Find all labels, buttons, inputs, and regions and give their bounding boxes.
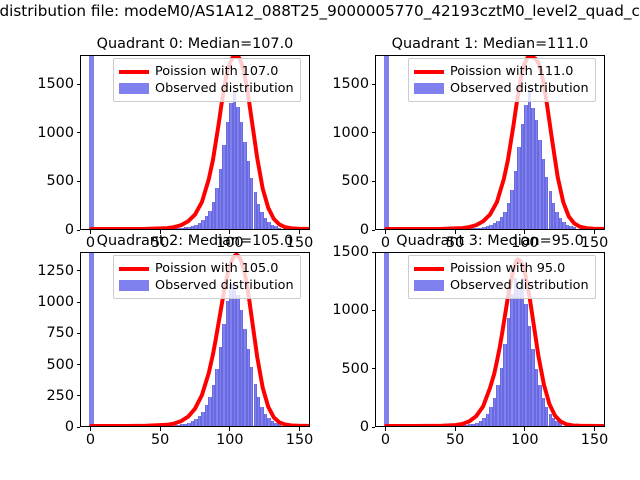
subplot-quadrant-2: Quadrant 2: Median=105.0 Poission with 1… bbox=[80, 252, 310, 427]
y-tick-label: 0 bbox=[65, 222, 74, 238]
legend-3[interactable]: Poission with 95.0Observed distribution bbox=[408, 255, 596, 299]
y-tick-mark bbox=[77, 132, 81, 133]
x-tick-mark bbox=[160, 427, 161, 431]
y-tick-mark bbox=[77, 333, 81, 334]
x-tick-label: 0 bbox=[86, 432, 95, 448]
legend-label: Observed distribution bbox=[155, 278, 294, 293]
legend-1[interactable]: Poission with 111.0Observed distribution bbox=[408, 58, 596, 102]
legend-entry: Observed distribution bbox=[414, 277, 589, 294]
y-tick-label: 1500 bbox=[332, 76, 369, 92]
legend-2[interactable]: Poission with 105.0Observed distribution bbox=[113, 255, 301, 299]
legend-label: Poission with 105.0 bbox=[155, 261, 278, 276]
legend-entry: Poission with 105.0 bbox=[119, 260, 294, 277]
y-tick-label: 1000 bbox=[37, 125, 74, 141]
y-tick-mark bbox=[372, 181, 376, 182]
legend-line-swatch bbox=[119, 70, 149, 74]
y-tick-mark bbox=[77, 395, 81, 396]
legend-patch-swatch bbox=[119, 83, 149, 94]
y-tick-mark bbox=[77, 84, 81, 85]
legend-patch-swatch bbox=[119, 280, 149, 291]
x-tick-label: 0 bbox=[86, 235, 95, 251]
x-tick-mark bbox=[594, 427, 595, 431]
x-tick-mark bbox=[299, 230, 300, 234]
y-tick-mark bbox=[372, 310, 376, 311]
y-tick-mark bbox=[372, 132, 376, 133]
x-tick-label: 0 bbox=[381, 235, 390, 251]
y-tick-label: 250 bbox=[47, 388, 74, 404]
y-tick-mark bbox=[77, 230, 81, 231]
x-tick-mark bbox=[455, 427, 456, 431]
y-tick-mark bbox=[77, 364, 81, 365]
subplot-title-1: Quadrant 1: Median=111.0 bbox=[392, 36, 589, 52]
subplot-quadrant-3: Quadrant 3: Median=95.0 Poission with 95… bbox=[375, 252, 605, 427]
subplot-title-2: Quadrant 2: Median=105.0 bbox=[97, 233, 294, 249]
legend-entry: Poission with 107.0 bbox=[119, 63, 294, 80]
y-tick-mark bbox=[372, 252, 376, 253]
x-tick-label: 150 bbox=[581, 432, 608, 448]
x-tick-label: 50 bbox=[151, 432, 169, 448]
y-tick-label: 500 bbox=[342, 173, 369, 189]
y-tick-label: 1250 bbox=[37, 263, 74, 279]
subplot-quadrant-1: Quadrant 1: Median=111.0 Poission with 1… bbox=[375, 55, 605, 230]
y-tick-label: 0 bbox=[360, 419, 369, 435]
x-tick-label: 150 bbox=[581, 235, 608, 251]
legend-label: Poission with 111.0 bbox=[450, 64, 573, 79]
legend-entry: Observed distribution bbox=[414, 80, 589, 97]
matplotlib-figure: Median distribution file: modeM0/AS1A12_… bbox=[0, 0, 640, 480]
x-tick-label: 50 bbox=[446, 432, 464, 448]
y-tick-mark bbox=[77, 270, 81, 271]
y-tick-label: 1500 bbox=[37, 76, 74, 92]
legend-entry: Observed distribution bbox=[119, 80, 294, 97]
x-tick-mark bbox=[229, 427, 230, 431]
x-tick-label: 150 bbox=[286, 432, 313, 448]
legend-line-swatch bbox=[414, 70, 444, 74]
legend-label: Observed distribution bbox=[450, 81, 589, 96]
legend-entry: Observed distribution bbox=[119, 277, 294, 294]
subplot-quadrant-0: Quadrant 0: Median=107.0 Poission with 1… bbox=[80, 55, 310, 230]
x-tick-label: 100 bbox=[216, 432, 243, 448]
subplot-title-3: Quadrant 3: Median=95.0 bbox=[396, 233, 584, 249]
subplot-title-0: Quadrant 0: Median=107.0 bbox=[97, 36, 294, 52]
y-tick-label: 1000 bbox=[332, 125, 369, 141]
y-tick-label: 0 bbox=[65, 419, 74, 435]
y-tick-mark bbox=[372, 368, 376, 369]
legend-label: Poission with 107.0 bbox=[155, 64, 278, 79]
x-tick-mark bbox=[524, 427, 525, 431]
x-tick-mark bbox=[299, 427, 300, 431]
y-tick-mark bbox=[77, 427, 81, 428]
legend-entry: Poission with 111.0 bbox=[414, 63, 589, 80]
legend-0[interactable]: Poission with 107.0Observed distribution bbox=[113, 58, 301, 102]
legend-patch-swatch bbox=[414, 83, 444, 94]
x-tick-mark bbox=[594, 230, 595, 234]
x-tick-mark bbox=[385, 230, 386, 234]
x-tick-mark bbox=[90, 427, 91, 431]
x-tick-mark bbox=[385, 427, 386, 431]
figure-suptitle: Median distribution file: modeM0/AS1A12_… bbox=[0, 2, 640, 20]
legend-label: Observed distribution bbox=[155, 81, 294, 96]
y-tick-label: 750 bbox=[47, 325, 74, 341]
y-tick-mark bbox=[372, 230, 376, 231]
y-tick-mark bbox=[77, 302, 81, 303]
x-tick-label: 100 bbox=[511, 432, 538, 448]
legend-patch-swatch bbox=[414, 280, 444, 291]
y-tick-mark bbox=[372, 84, 376, 85]
x-tick-label: 0 bbox=[381, 432, 390, 448]
y-tick-label: 1000 bbox=[332, 302, 369, 318]
y-tick-label: 1500 bbox=[332, 244, 369, 260]
legend-label: Observed distribution bbox=[450, 278, 589, 293]
legend-line-swatch bbox=[119, 267, 149, 271]
y-tick-label: 500 bbox=[342, 361, 369, 377]
y-tick-mark bbox=[372, 427, 376, 428]
y-tick-label: 500 bbox=[47, 173, 74, 189]
y-tick-label: 1000 bbox=[37, 294, 74, 310]
legend-label: Poission with 95.0 bbox=[450, 261, 565, 276]
y-tick-label: 500 bbox=[47, 357, 74, 373]
legend-entry: Poission with 95.0 bbox=[414, 260, 589, 277]
y-tick-mark bbox=[77, 181, 81, 182]
legend-line-swatch bbox=[414, 267, 444, 271]
y-tick-label: 0 bbox=[360, 222, 369, 238]
x-tick-mark bbox=[90, 230, 91, 234]
